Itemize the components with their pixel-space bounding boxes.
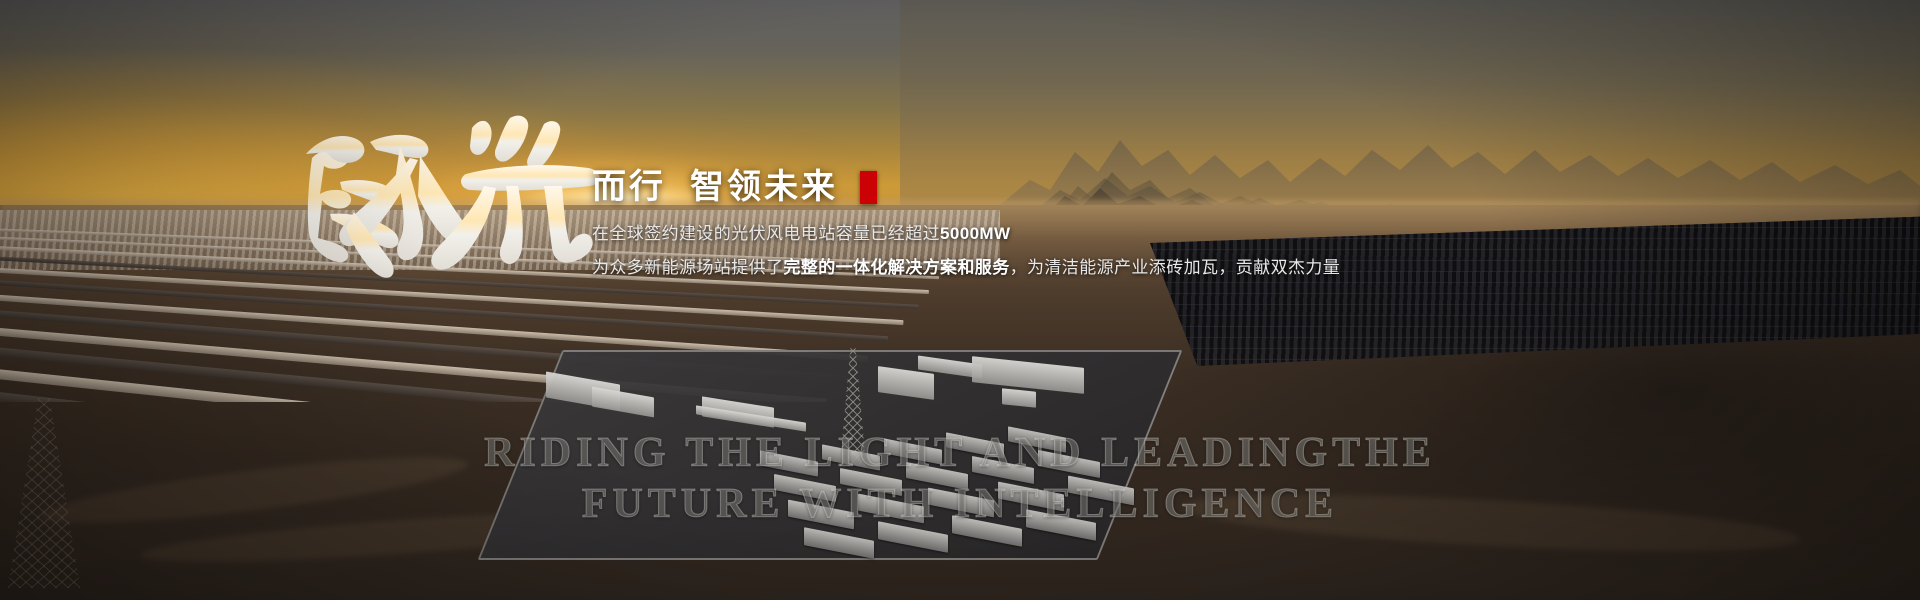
aux-cabinet <box>1002 388 1036 408</box>
subtitle-line-2-a: 为众多新能源场站提供了 <box>592 258 783 277</box>
subtitle-line-1: 在全球签约建设的光伏风电电站容量已经超过5000MW <box>592 219 1352 244</box>
subtitle-line-2-b: ，为清洁能源产业添砖加瓦，贡献双杰力量 <box>1010 258 1341 277</box>
subtitle-capacity-value: 5000MW <box>940 224 1010 243</box>
headline-part-1: 而行 <box>592 168 666 207</box>
headline-text-block: 而行 智领未来 在全球签约建设的光伏风电电站容量已经超过5000MW 为众多新能… <box>592 168 1352 278</box>
hero-banner: 而行 智领未来 在全球签约建设的光伏风电电站容量已经超过5000MW 为众多新能… <box>0 0 1920 600</box>
subtitle-line-2-strong: 完整的一体化解决方案和服务 <box>783 258 1009 277</box>
headline: 而行 智领未来 <box>592 168 1352 207</box>
subtitle-line-2: 为众多新能源场站提供了完整的一体化解决方案和服务，为清洁能源产业添砖加瓦，贡献双… <box>592 253 1352 278</box>
headline-part-2: 智领未来 <box>690 168 838 207</box>
substation-compound <box>520 330 1160 580</box>
subtitle-line-1-prefix: 在全球签约建设的光伏风电电站容量已经超过 <box>592 224 940 243</box>
accent-block <box>860 171 877 204</box>
